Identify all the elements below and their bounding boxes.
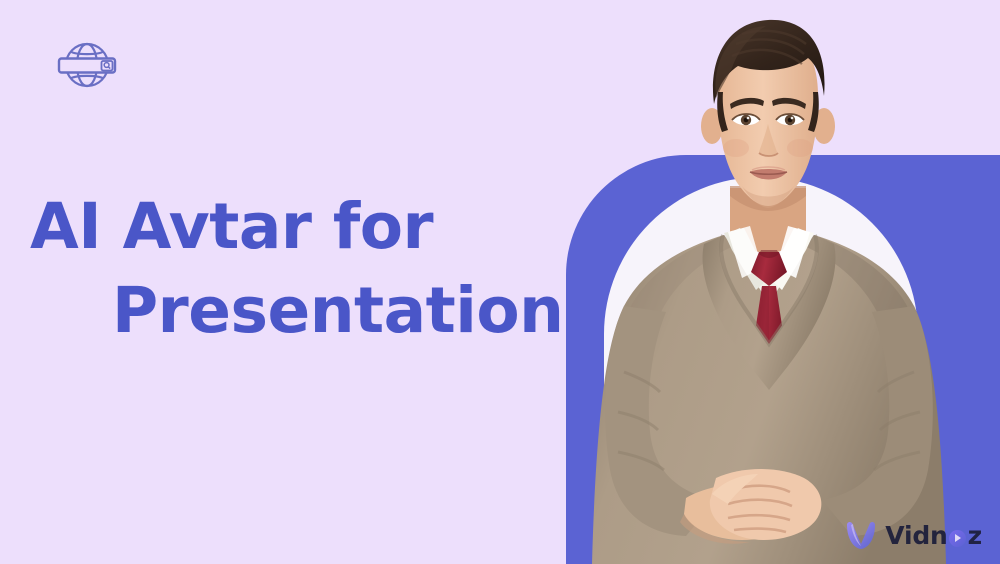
wordmark-part-2: z: [968, 521, 982, 550]
vidnoz-watermark[interactable]: Vidn z: [844, 518, 982, 552]
avatar: [566, 0, 1000, 564]
wordmark-play-o-icon: [949, 530, 966, 547]
vidnoz-wordmark: Vidn z: [885, 521, 982, 550]
wordmark-part-1: Vidn: [885, 521, 947, 550]
slide-canvas: AI Avtar for Presentation: [0, 0, 1000, 564]
vidnoz-v-icon: [844, 518, 878, 552]
globe-search-icon: [50, 36, 124, 94]
page-title: AI Avtar for Presentation: [0, 185, 570, 353]
brand-logo[interactable]: [50, 36, 124, 94]
presenter-figure: [566, 0, 1000, 564]
headline-line-2: Presentation: [0, 269, 570, 353]
headline-line-1: AI Avtar for: [0, 185, 570, 269]
